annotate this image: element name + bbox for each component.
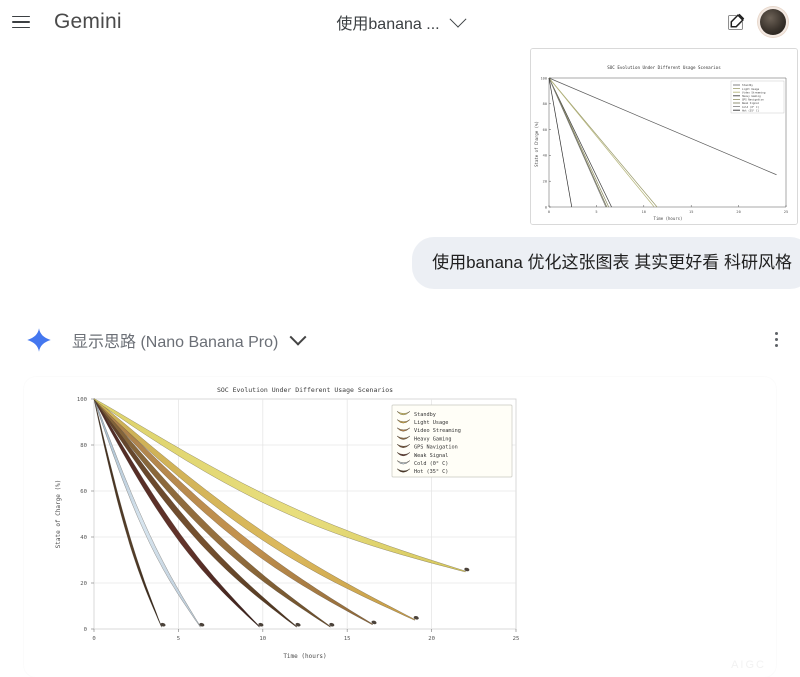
svg-text:0: 0 <box>84 627 87 633</box>
user-message-row: 使用banana 优化这张图表 其实更好看 科研风格 <box>0 225 800 289</box>
svg-text:Video Streaming: Video Streaming <box>414 428 461 434</box>
svg-text:Heavy Gaming: Heavy Gaming <box>414 436 451 442</box>
svg-text:Cold (0° C): Cold (0° C) <box>742 105 760 109</box>
svg-text:80: 80 <box>80 443 87 449</box>
conversation-title-button[interactable]: 使用banana ... <box>336 10 463 34</box>
more-vertical-icon[interactable] <box>766 330 786 350</box>
svg-text:25: 25 <box>784 210 788 214</box>
svg-text:60: 60 <box>80 489 87 495</box>
svg-text:20: 20 <box>736 210 740 214</box>
svg-text:0: 0 <box>548 210 550 214</box>
svg-text:Weak Signal: Weak Signal <box>742 101 760 105</box>
hamburger-icon[interactable] <box>12 9 38 35</box>
svg-text:80: 80 <box>543 102 547 106</box>
svg-text:15: 15 <box>689 210 693 214</box>
generated-image-card[interactable]: SOC Evolution Under Different Usage Scen… <box>24 377 776 677</box>
svg-text:State of Charge (%): State of Charge (%) <box>534 121 539 167</box>
svg-text:Heavy Gaming: Heavy Gaming <box>742 94 761 98</box>
svg-text:60: 60 <box>543 128 547 132</box>
svg-text:Cold (0° C): Cold (0° C) <box>414 461 448 467</box>
chevron-down-icon[interactable] <box>290 328 307 345</box>
svg-text:5: 5 <box>595 210 597 214</box>
model-response-header: 显示思路 (Nano Banana Pro) <box>0 289 800 353</box>
svg-text:Standby: Standby <box>742 83 753 87</box>
svg-text:5: 5 <box>177 636 180 642</box>
thinking-label: 显示思路 (Nano Banana Pro) <box>72 328 278 352</box>
svg-text:10: 10 <box>642 210 646 214</box>
svg-text:Hot (35° C): Hot (35° C) <box>742 108 760 112</box>
original-chart-svg: SOC Evolution Under Different Usage Scen… <box>531 49 797 224</box>
svg-text:20: 20 <box>428 636 435 642</box>
svg-text:100: 100 <box>77 397 87 403</box>
svg-text:State of Charge (%): State of Charge (%) <box>55 479 62 548</box>
banana-chart-svg: SOC Evolution Under Different Usage Scen… <box>32 377 542 669</box>
svg-text:0: 0 <box>545 205 547 209</box>
svg-text:Hot (35° C): Hot (35° C) <box>414 469 448 475</box>
brand-title: Gemini <box>54 10 122 34</box>
conversation-area: SOC Evolution Under Different Usage Scen… <box>0 44 800 677</box>
svg-text:100: 100 <box>541 76 548 80</box>
generated-image-card-wrap: SOC Evolution Under Different Usage Scen… <box>0 353 800 677</box>
svg-text:25: 25 <box>513 636 520 642</box>
user-avatar[interactable] <box>760 9 786 35</box>
chevron-down-icon[interactable] <box>449 11 466 28</box>
svg-text:Light Usage: Light Usage <box>742 87 760 91</box>
svg-text:Weak Signal: Weak Signal <box>414 452 448 458</box>
compose-icon[interactable] <box>722 9 748 35</box>
svg-text:Time (hours): Time (hours) <box>654 216 683 221</box>
svg-text:Video Streaming: Video Streaming <box>742 90 766 94</box>
svg-text:20: 20 <box>80 581 87 587</box>
user-message-bubble: 使用banana 优化这张图表 其实更好看 科研风格 <box>412 237 800 289</box>
attached-chart-thumbnail[interactable]: SOC Evolution Under Different Usage Scen… <box>530 48 798 225</box>
svg-text:40: 40 <box>80 535 87 541</box>
svg-text:GPS Navigation: GPS Navigation <box>742 98 764 102</box>
gemini-sparkle-icon <box>26 327 52 353</box>
svg-text:15: 15 <box>344 636 351 642</box>
svg-text:40: 40 <box>543 154 547 158</box>
svg-text:Time (hours): Time (hours) <box>283 653 326 660</box>
conversation-title-text: 使用banana ... <box>336 10 439 34</box>
svg-text:SOC Evolution Under Different: SOC Evolution Under Different Usage Scen… <box>607 65 721 70</box>
svg-text:GPS Navigation: GPS Navigation <box>414 444 458 450</box>
attachment-row: SOC Evolution Under Different Usage Scen… <box>0 44 800 225</box>
svg-text:Light Usage: Light Usage <box>414 420 448 426</box>
svg-text:10: 10 <box>259 636 266 642</box>
svg-text:20: 20 <box>543 180 547 184</box>
aigc-watermark: AIGC <box>731 659 766 671</box>
svg-text:0: 0 <box>92 636 95 642</box>
banana-chart[interactable]: SOC Evolution Under Different Usage Scen… <box>32 377 542 669</box>
app-bar: Gemini 使用banana ... <box>0 0 800 44</box>
svg-text:Standby: Standby <box>414 411 436 417</box>
svg-text:SOC Evolution Under Different: SOC Evolution Under Different Usage Scen… <box>217 386 393 394</box>
